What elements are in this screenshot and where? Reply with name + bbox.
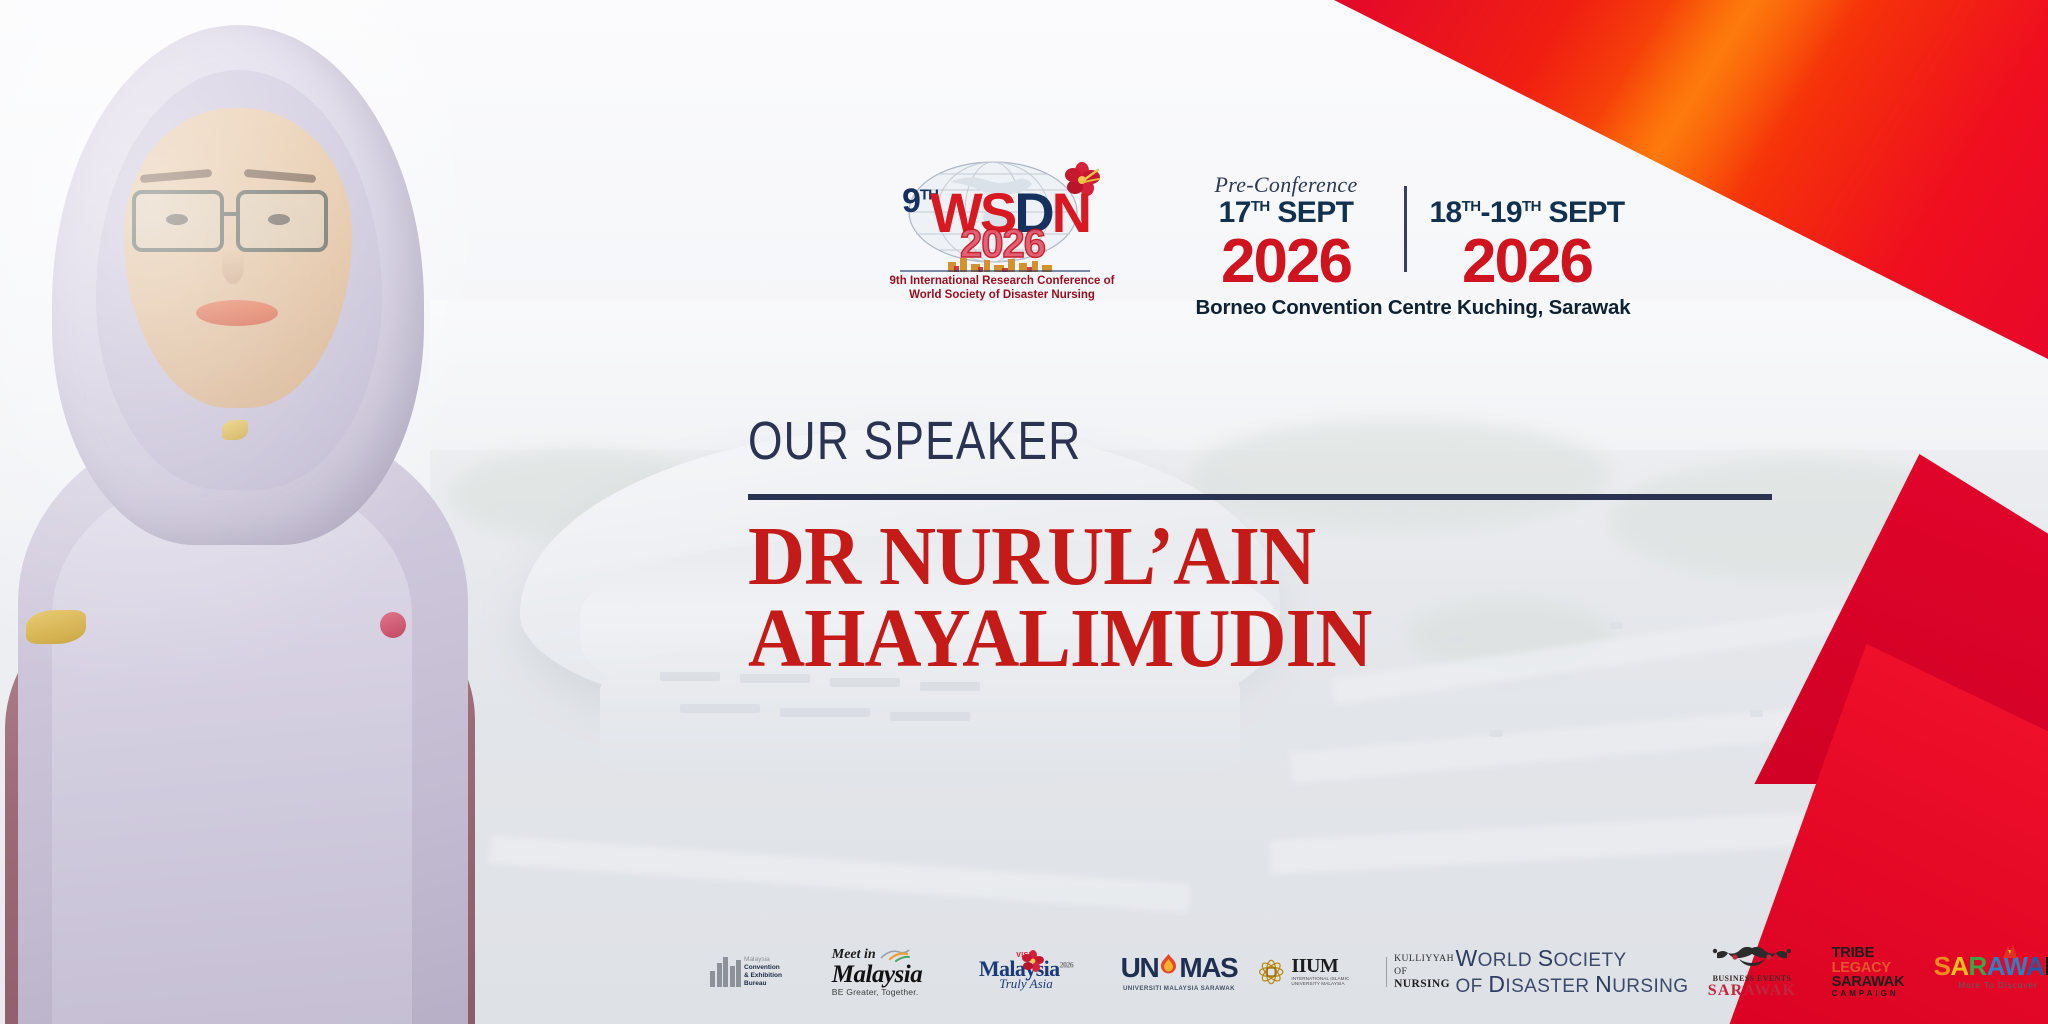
unimas-wordmark-part2: MAS [1179, 955, 1237, 980]
business-events-sarawak-logo: BUSINESS EVENTS SARAWAK [1690, 940, 1814, 1004]
world-society-of-disaster-nursing-logo: WORLD SOCIETY OF DISASTER NURSING [1454, 940, 1690, 1004]
flame-icon [1159, 953, 1178, 977]
date-divider [1404, 186, 1407, 272]
speaker-name-line1: DR NURUL’AIN [748, 516, 1782, 598]
sarawak-tagline: More To Discover [1934, 980, 2048, 990]
title-underline [748, 494, 1772, 500]
iium-subtitle: INTERNATIONAL ISLAMIC UNIVERSITY MALAYSI… [1291, 976, 1379, 986]
venue-text: Borneo Convention Centre Kuching, Sarawa… [1178, 296, 1648, 320]
malaysia-convention-exhibition-bureau-logo: Malaysia Convention & Exhibition Bureau [690, 940, 802, 1004]
hibiscus-icon [1022, 950, 1044, 972]
kulliyyah-line1: KULLIYYAH OF [1394, 953, 1454, 978]
mceb-line2: Convention [744, 964, 782, 972]
main-conference-days: 18TH-19TH SEPT [1429, 196, 1624, 230]
mceb-line4: Bureau [744, 980, 782, 988]
photo-window [660, 672, 720, 681]
iium-kulliyyah-of-nursing-logo: IIUM INTERNATIONAL ISLAMIC UNIVERSITY MA… [1258, 940, 1454, 1004]
unimas-logo: UN MAS UNIVERSITI MALAYSIA SARAWAK [1100, 940, 1258, 1004]
visit-malaysia-2026-logo: VISIT Malaysia2026 Truly Asia [952, 940, 1100, 1004]
sarawak-more-to-discover-logo: SARAWAK More To Discover [1922, 940, 2048, 1004]
pre-conference-year: 2026 [1221, 232, 1351, 292]
photo-window [890, 712, 970, 721]
wsdn-conference-logo: 9TH WSDN 2026 9th International Researc [852, 160, 1152, 280]
mceb-line1: Malaysia [744, 956, 782, 964]
swoosh-icon [880, 948, 910, 962]
hornbill-icon [2001, 944, 2019, 960]
malaysia-wordmark: Malaysia [832, 963, 922, 986]
sarawak-label: SARAWAK [1708, 983, 1796, 998]
logo-subtitle-line2: World Society of Disaster Nursing [852, 288, 1152, 302]
sponsor-logo-strip: Malaysia Convention & Exhibition Bureau … [690, 936, 2010, 1008]
wsdn-footer-line2: OF DISASTER NURSING [1456, 972, 1689, 998]
sarawak-letter: A [2026, 951, 2044, 981]
portrait-edge-fade [0, 0, 500, 1024]
sarawak-letter: R [1969, 951, 1987, 981]
sarawak-letter: S [1934, 951, 1951, 981]
tribe-line2: LEGACY [1832, 961, 1905, 976]
speaker-portrait [0, 0, 500, 1024]
kulliyyah-line2: NURSING [1394, 978, 1454, 991]
date-block: Pre-Conference 17TH SEPT 2026 18TH-19TH … [1178, 172, 1638, 282]
logo-subtitle-line1: 9th International Research Conference of [852, 274, 1152, 288]
tribe-line3: SARAWAK [1832, 975, 1905, 990]
pre-conference-date: Pre-Conference 17TH SEPT 2026 [1178, 172, 1394, 292]
tribe-line1: TRIBE [1832, 946, 1905, 961]
photo-vehicle [1490, 730, 1503, 737]
pre-conference-day: 17TH SEPT [1219, 196, 1354, 230]
tribe-line4: CAMPAIGN [1832, 990, 1905, 998]
speaker-name: DR NURUL’AIN AHAYALIMUDIN [748, 516, 1782, 681]
photo-vehicle [1750, 710, 1763, 717]
photo-window [680, 704, 760, 713]
tribe-legacy-sarawak-campaign-logo: TRIBE LEGACY SARAWAK CAMPAIGN [1814, 940, 1922, 1004]
speaker-name-line2: AHAYALIMUDIN [748, 598, 1782, 680]
building-icon [710, 957, 741, 987]
photo-window [780, 708, 870, 717]
unimas-subtitle: UNIVERSITI MALAYSIA SARAWAK [1123, 985, 1235, 992]
page-title: OUR SPEAKER [748, 410, 1081, 472]
logo-divider [900, 270, 1090, 272]
iium-wordmark: IIUM [1291, 957, 1379, 976]
logo-subtitle: 9th International Research Conference of… [852, 274, 1152, 302]
main-conference-year: 2026 [1462, 232, 1592, 292]
wsdn-footer-line1: WORLD SOCIETY [1456, 946, 1689, 972]
main-conference-date: 18TH-19TH SEPT 2026 [1417, 172, 1637, 292]
pre-conference-label: Pre-Conference [1214, 172, 1357, 198]
unimas-wordmark-part1: UN [1121, 955, 1159, 980]
meet-in-malaysia-logo: Meet in Malaysia BE Greater, Together. [802, 940, 952, 1004]
meet-in-malaysia-tagline: BE Greater, Together. [832, 987, 922, 997]
tribal-ornament-icon [1709, 945, 1795, 969]
sarawak-wordmark: SARAWAK [1934, 954, 2048, 979]
iium-divider [1386, 957, 1387, 987]
sarawak-letter: A [1950, 951, 1968, 981]
sarawak-letter: K [2044, 951, 2048, 981]
mceb-line3: & Exhibition [744, 972, 782, 980]
banner-canvas: 9TH WSDN 2026 9th International Researc [0, 0, 2048, 1024]
islamic-rosette-icon [1258, 955, 1284, 989]
